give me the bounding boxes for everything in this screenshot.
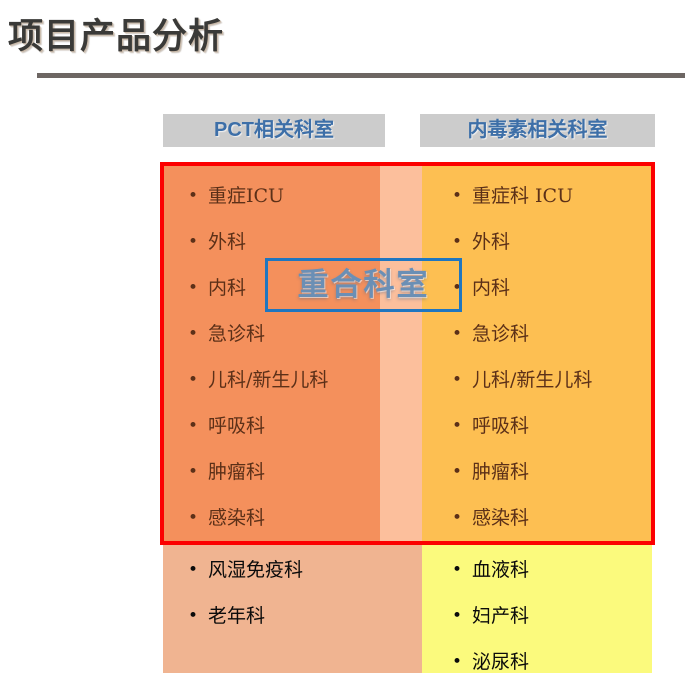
page-title: 项目产品分析 — [8, 16, 224, 58]
list-item: 重症科 ICU — [450, 173, 592, 219]
list-item: 风湿免疫科 — [186, 547, 303, 593]
overlap-badge: 重合科室 — [265, 258, 462, 312]
list-item-label: 内科 — [472, 277, 510, 299]
list-item-label: 肿瘤科 — [472, 461, 529, 483]
list-item-label: 感染科 — [208, 507, 265, 529]
list-item-label: 泌尿科 — [472, 651, 529, 673]
list-item: 内科 — [450, 265, 592, 311]
list-item-label: 呼吸科 — [472, 415, 529, 437]
list-item: 儿科/新生儿科 — [186, 357, 328, 403]
left-column-header: PCT相关科室 — [163, 114, 385, 147]
list-item-label: 肿瘤科 — [208, 461, 265, 483]
list-item-label: 儿科/新生儿科 — [472, 369, 592, 391]
list-item: 急诊科 — [450, 311, 592, 357]
list-item-label: 妇产科 — [472, 605, 529, 627]
list-item: 老年科 — [186, 593, 303, 639]
overlap-strip-background — [380, 165, 422, 545]
overlap-strip-lower-background — [380, 545, 422, 673]
list-item: 呼吸科 — [186, 403, 328, 449]
list-item: 肿瘤科 — [186, 449, 328, 495]
list-item-label: 外科 — [208, 231, 246, 253]
list-item: 重症ICU — [186, 173, 328, 219]
left-column-other-list: 风湿免疫科 老年科 — [186, 547, 303, 639]
list-item: 感染科 — [450, 495, 592, 541]
list-item: 呼吸科 — [450, 403, 592, 449]
list-item: 肿瘤科 — [450, 449, 592, 495]
list-item-label: 重症科 ICU — [472, 185, 573, 207]
list-item-label: 老年科 — [208, 605, 265, 627]
list-item-label: 急诊科 — [472, 323, 529, 345]
list-item: 妇产科 — [450, 593, 529, 639]
right-column-highlighted-list: 重症科 ICU 外科 内科 急诊科 儿科/新生儿科 呼吸科 肿瘤科 感染科 — [450, 173, 592, 541]
list-item-label: 呼吸科 — [208, 415, 265, 437]
left-column-highlighted-list: 重症ICU 外科 内科 急诊科 儿科/新生儿科 呼吸科 肿瘤科 感染科 — [186, 173, 328, 541]
list-item-label: 重症ICU — [208, 185, 284, 207]
list-item: 外科 — [450, 219, 592, 265]
list-item: 儿科/新生儿科 — [450, 357, 592, 403]
list-item-label: 感染科 — [472, 507, 529, 529]
title-divider — [37, 73, 685, 78]
list-item-label: 风湿免疫科 — [208, 559, 303, 581]
list-item: 泌尿科 — [450, 639, 529, 685]
list-item-label: 内科 — [208, 277, 246, 299]
list-item: 感染科 — [186, 495, 328, 541]
right-column-header: 内毒素相关科室 — [420, 114, 655, 147]
list-item-label: 儿科/新生儿科 — [208, 369, 328, 391]
list-item-label: 外科 — [472, 231, 510, 253]
list-item: 血液科 — [450, 547, 529, 593]
right-column-other-list: 血液科 妇产科 泌尿科 — [450, 547, 529, 685]
list-item-label: 急诊科 — [208, 323, 265, 345]
list-item-label: 血液科 — [472, 559, 529, 581]
overlap-badge-label: 重合科室 — [298, 268, 430, 302]
list-item: 急诊科 — [186, 311, 328, 357]
